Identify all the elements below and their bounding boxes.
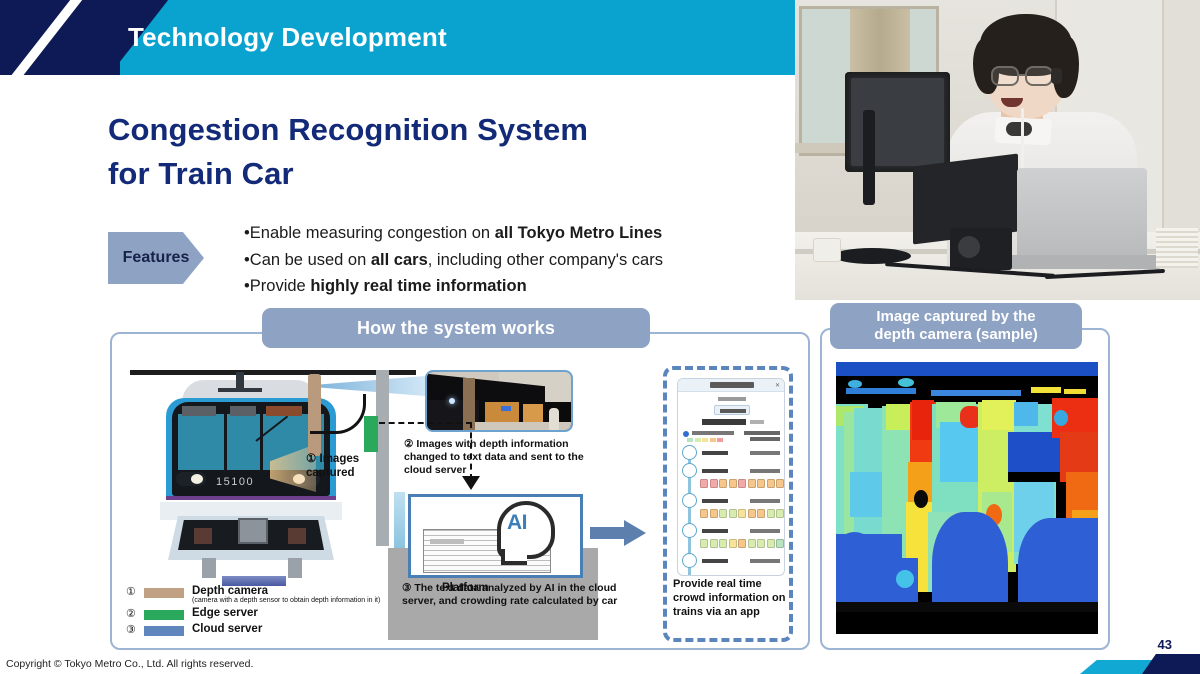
ai-analysis-box: AI [408, 494, 583, 578]
legend-sublabel: (camera with a depth sensor to obtain de… [192, 597, 380, 604]
ai-document-highlight [430, 539, 464, 544]
app-station-name [702, 469, 728, 473]
app-station-marker [682, 523, 697, 538]
app-legend-icon [683, 431, 689, 437]
step-2-text: ② Images with depth information changed … [404, 438, 614, 477]
app-title-placeholder [710, 382, 754, 388]
app-station-name [702, 451, 728, 455]
feature-1-prefix: Enable measuring congestion on [250, 224, 495, 242]
legend-swatch-cloud-server [144, 626, 184, 636]
camera-cable-hook [310, 394, 366, 434]
app-station-marker [682, 463, 697, 478]
app-car-row [700, 479, 785, 488]
photo-glasses-left [991, 66, 1019, 86]
photo-papers [1156, 228, 1198, 268]
label-images-captured: ① Images captured [306, 452, 359, 481]
legend-row: ② Edge server [126, 608, 396, 622]
app-station-time [750, 529, 780, 533]
train-car-number: 15100 [216, 476, 254, 488]
photo-camera-lens [958, 236, 980, 258]
app-legend-text-placeholder [692, 431, 734, 435]
header-title: Technology Development [128, 22, 447, 53]
feature-2-bold: all cars [371, 251, 428, 269]
photo-power-adapter [813, 238, 841, 262]
train-sunshade-1 [182, 406, 216, 416]
how-it-works-badge: How the system works [262, 308, 650, 348]
train-support-left [202, 558, 216, 578]
app-subtitle-placeholder [718, 397, 746, 401]
train-equipment-box-left [194, 528, 212, 544]
photo-glasses-bridge [1018, 74, 1027, 76]
page-title-line-2: for Train Car [108, 152, 768, 196]
depth-image-badge: Image captured by the depth camera (samp… [830, 303, 1082, 349]
feature-item-1: •Enable measuring congestion on all Toky… [244, 220, 804, 247]
features-list: •Enable measuring congestion on all Toky… [244, 220, 804, 300]
train-window-divider-1 [224, 414, 227, 470]
flow-dashed-horizontal [379, 422, 472, 424]
thumb-person [549, 408, 559, 432]
train-window-divider-2 [260, 414, 263, 470]
platform-pole [376, 370, 389, 546]
legend-label: Depth camera [192, 585, 268, 597]
photo-monitor [845, 72, 950, 172]
train-pantograph-bar [218, 388, 262, 392]
app-station-time [750, 499, 780, 503]
platform-door [394, 492, 405, 548]
app-station-name [702, 499, 728, 503]
train-equipment-box-right [288, 528, 306, 544]
depth-camera-image [836, 362, 1098, 634]
step-3-text: ③ The text data analyzed by AI in the cl… [402, 582, 622, 608]
app-output-panel: ✕ [663, 366, 793, 642]
train-headlight-left [176, 472, 206, 486]
app-car-row [700, 539, 785, 548]
feature-1-bold: all Tokyo Metro Lines [495, 224, 662, 242]
photo-earphone-right [1051, 68, 1062, 84]
app-heading-placeholder [702, 419, 746, 425]
app-car-row [700, 509, 785, 518]
app-titlebar: ✕ [678, 379, 784, 392]
app-station-marker [682, 493, 697, 508]
feature-3-prefix: Provide [250, 277, 311, 295]
app-close-icon[interactable]: ✕ [775, 382, 780, 389]
photo-glasses-right [1025, 66, 1053, 86]
depth-image-panel [820, 328, 1110, 650]
flow-arrow-right-icon [590, 520, 648, 546]
legend-row: ③ Cloud server [126, 624, 396, 638]
feature-item-2: •Can be used on all cars, including othe… [244, 247, 804, 274]
photo-earphone-neck [1006, 122, 1032, 136]
presenter-video-feed [795, 0, 1200, 300]
arrow-shaft [590, 527, 628, 539]
app-toggle-button[interactable] [714, 405, 750, 415]
feature-2-prefix: Can be used on [250, 251, 371, 269]
diagram-legend: ① Depth camera (camera with a depth sens… [126, 586, 396, 640]
legend-swatch-depth-camera [144, 588, 184, 598]
system-diagram-panel: 15100 ① Images captured Platform door Pl… [110, 332, 810, 650]
features-section: Features •Enable measuring congestion on… [108, 220, 798, 300]
legend-row: ① Depth camera (camera with a depth sens… [126, 586, 396, 600]
train-support-right [288, 558, 302, 578]
arrow-head [624, 520, 646, 546]
photo-laptop-gray-base [1010, 255, 1160, 269]
photo-monitor-arm [863, 110, 875, 205]
app-station-name [702, 529, 728, 533]
thumb-sign [501, 406, 511, 411]
app-station-marker [682, 445, 697, 460]
app-meta-line-1 [744, 431, 780, 435]
page-title: Congestion Recognition System for Train … [108, 108, 768, 196]
depth-badge-line-1: Image captured by the [876, 308, 1035, 326]
ai-label: AI [507, 511, 527, 535]
legend-number: ③ [126, 623, 136, 636]
train-coupler [238, 518, 268, 544]
app-caption: Provide real time crowd information on t… [673, 578, 793, 620]
depth-badge-line-2: depth camera (sample) [874, 326, 1037, 344]
feature-item-3: •Provide highly real time information [244, 273, 804, 300]
app-screenshot: ✕ [677, 378, 785, 576]
app-station-time [750, 451, 780, 455]
ai-head-chin [501, 549, 527, 565]
page-number: 43 [1158, 637, 1172, 652]
train-sunshade-2 [230, 406, 256, 416]
legend-label: Cloud server [192, 623, 262, 635]
legend-number: ① [126, 585, 136, 598]
features-badge: Features [108, 232, 204, 284]
app-station-name [702, 559, 728, 563]
edge-server-box [364, 416, 378, 452]
legend-label: Edge server [192, 607, 258, 619]
app-legend [683, 431, 739, 441]
app-station-marker [682, 553, 697, 568]
footer-navy-shape [1142, 654, 1200, 674]
app-station-time [750, 469, 780, 473]
slide-root: Technology Development [0, 0, 1200, 674]
photo-camera-device [950, 228, 1012, 270]
app-meta-line-2 [750, 437, 780, 441]
flow-arrow-down-icon [462, 476, 480, 490]
app-heading-sub-placeholder [750, 420, 764, 424]
footer-decoration [1080, 648, 1200, 674]
photo-wall-panel-2 [1162, 0, 1200, 255]
thumb-light [449, 398, 455, 404]
page-title-line-1: Congestion Recognition System [108, 108, 768, 152]
feature-3-bold: highly real time information [310, 277, 526, 295]
label-images-captured-line2: captured [306, 466, 359, 480]
overhead-rail [130, 370, 416, 375]
photo-laptop-gray [1017, 168, 1147, 263]
feature-2-suffix: , including other company's cars [428, 251, 663, 269]
app-legend-chips [687, 438, 723, 442]
app-station-time [750, 559, 780, 563]
legend-swatch-edge-server [144, 610, 184, 620]
copyright-text: Copyright © Tokyo Metro Co., Ltd. All ri… [6, 658, 253, 670]
train-stripe [166, 496, 336, 500]
legend-number: ② [126, 607, 136, 620]
label-images-captured-line1: ① Images [306, 452, 359, 466]
photo-monitor-base [833, 248, 911, 264]
train-destination-board [266, 406, 302, 416]
